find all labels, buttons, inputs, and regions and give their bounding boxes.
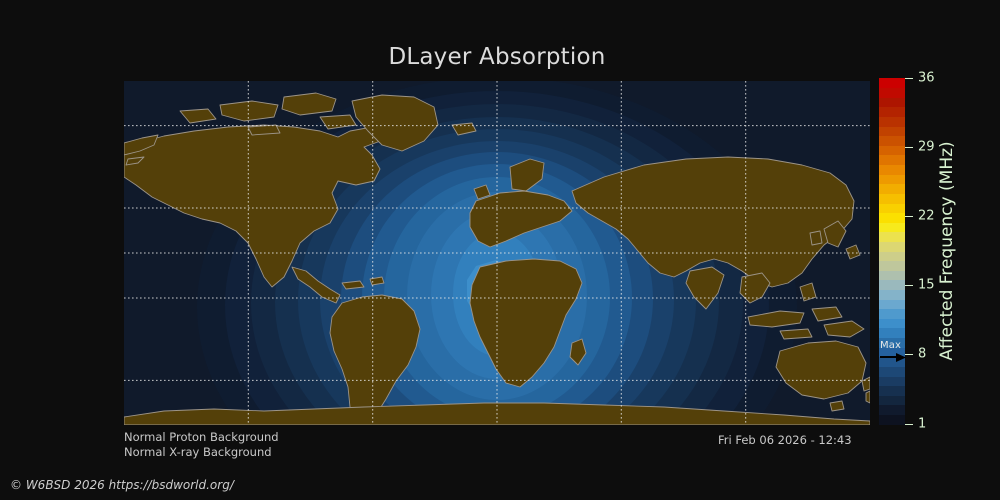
tick-label: 1	[918, 417, 926, 430]
tick-label: 29	[918, 140, 935, 153]
tick-mark	[905, 424, 913, 425]
colorbar-band	[879, 136, 905, 146]
colorbar-band	[879, 309, 905, 319]
colorbar-band	[879, 222, 905, 232]
colorbar-band	[879, 251, 905, 261]
colorbar-band	[879, 145, 905, 155]
colorbar-axis-label: Affected Frequency (MHz)	[934, 78, 960, 424]
figure-canvas: DLayer Absorption	[0, 0, 1000, 500]
world-map	[124, 81, 870, 425]
tick-mark	[905, 285, 913, 286]
colorbar-band	[879, 155, 905, 165]
tick-label: 8	[918, 348, 926, 361]
colorbar-band	[879, 88, 905, 98]
page-title: DLayer Absorption	[124, 44, 870, 70]
colorbar-band	[879, 193, 905, 203]
map-plot-area[interactable]	[124, 81, 870, 425]
tick-mark	[905, 354, 913, 355]
colorbar-band	[879, 203, 905, 213]
colorbar-band	[879, 241, 905, 251]
tick-mark	[905, 78, 913, 79]
tick-mark	[905, 147, 913, 148]
colorbar-band	[879, 78, 905, 88]
colorbar-band	[879, 347, 905, 357]
colorbar-band	[879, 318, 905, 328]
tick-label: 22	[918, 209, 935, 222]
colorbar-band	[879, 126, 905, 136]
colorbar-band	[879, 116, 905, 126]
colorbar-band	[879, 328, 905, 338]
colorbar-band	[879, 299, 905, 309]
colorbar-band	[879, 107, 905, 117]
colorbar-band	[879, 232, 905, 242]
colorbar-band	[879, 366, 905, 376]
colorbar-band	[879, 386, 905, 396]
colorbar-band	[879, 165, 905, 175]
colorbar-band	[879, 184, 905, 194]
tick-mark	[905, 216, 913, 217]
xray-background-status: Normal X-ray Background	[124, 445, 272, 459]
colorbar-band	[879, 357, 905, 367]
colorbar-band	[879, 213, 905, 223]
colorbar-band	[879, 97, 905, 107]
colorbar-gradient	[879, 78, 905, 424]
colorbar-band	[879, 280, 905, 290]
colorbar-band	[879, 376, 905, 386]
colorbar-band	[879, 338, 905, 348]
tick-label: 15	[918, 279, 935, 292]
colorbar-band	[879, 395, 905, 405]
colorbar[interactable]	[879, 78, 905, 424]
colorbar-band	[879, 405, 905, 415]
colorbar-band	[879, 270, 905, 280]
proton-background-status: Normal Proton Background	[124, 430, 279, 444]
copyright-notice: © W6BSD 2026 https://bsdworld.org/	[10, 478, 234, 492]
colorbar-band	[879, 414, 905, 424]
colorbar-band	[879, 174, 905, 184]
tick-label: 36	[918, 71, 935, 84]
timestamp: Fri Feb 06 2026 - 12:43	[718, 433, 852, 447]
colorbar-band	[879, 289, 905, 299]
colorbar-band	[879, 261, 905, 271]
